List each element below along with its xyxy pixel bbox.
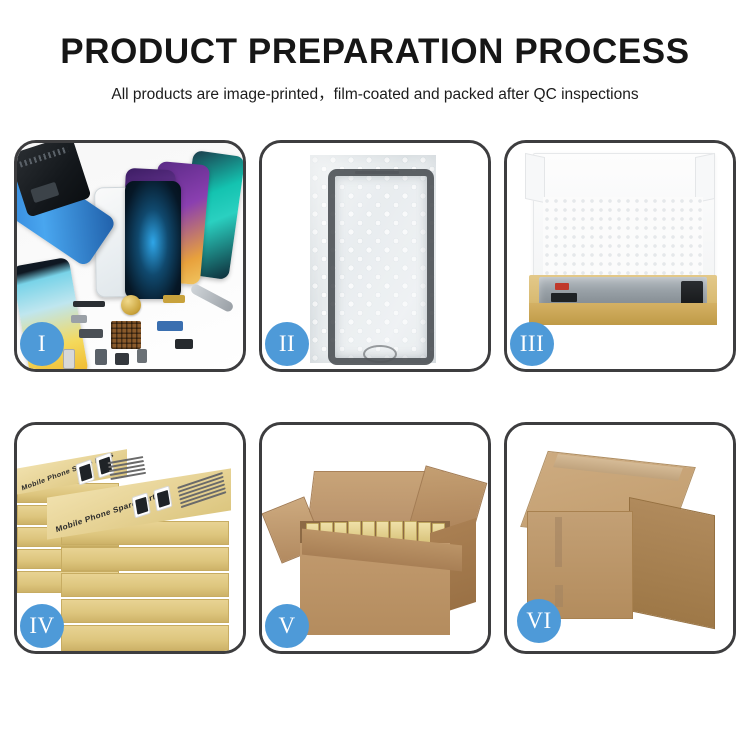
repair-tool [189, 283, 234, 313]
foam-padding [543, 197, 703, 281]
part-strip-9 [175, 339, 193, 349]
part-strip-7 [137, 349, 147, 363]
box-thumb-icon [132, 492, 151, 518]
wrapped-phone-screen [328, 169, 434, 365]
page-subtitle: All products are image-printed，film-coat… [0, 82, 750, 104]
process-step-4[interactable]: Mobile Phone Spare Parts Mobile Phone Sp… [14, 422, 246, 654]
part-strip-10 [71, 315, 87, 323]
tape-seam-upper [555, 517, 562, 567]
page-header: PRODUCT PREPARATION PROCESS All products… [0, 0, 750, 104]
process-step-1[interactable]: I [14, 140, 246, 372]
part-strip-2 [163, 295, 185, 303]
vibration-motor-part [121, 295, 141, 315]
screen-red-label [555, 283, 569, 290]
step-badge-2: II [265, 322, 309, 366]
part-strip-5 [95, 349, 107, 365]
step-badge-6: VI [517, 599, 561, 643]
screen-black-label [551, 293, 577, 302]
tape-seam-lower [555, 585, 563, 607]
part-strip-8 [63, 349, 75, 369]
process-step-6[interactable]: VI [504, 422, 736, 654]
box-thumb-icon [153, 485, 172, 511]
box-thumbnails-front [132, 485, 173, 518]
process-step-5[interactable]: V [259, 422, 491, 654]
step-badge-1: I [20, 322, 64, 366]
part-strip-3 [157, 321, 183, 331]
box-spec-lines-front [177, 472, 226, 510]
box-lid-flap-right [695, 153, 715, 203]
process-step-3[interactable]: III [504, 140, 736, 372]
stack-box-front-2 [61, 547, 229, 571]
part-strip-4 [79, 329, 103, 338]
stack-box-front-5 [61, 625, 229, 651]
step-badge-4: IV [20, 604, 64, 648]
sealed-carton-side [629, 497, 715, 629]
step-badge-5: V [265, 604, 309, 648]
box-thumb-icon [75, 459, 95, 486]
stack-box-front-3 [61, 573, 229, 597]
page-title: PRODUCT PREPARATION PROCESS [0, 34, 750, 71]
part-strip-1 [73, 301, 105, 307]
part-strip-6 [115, 353, 129, 365]
process-step-grid: I II III [14, 140, 736, 654]
step-badge-3: III [510, 322, 554, 366]
process-step-2[interactable]: II [259, 140, 491, 372]
box-lid-flap-left [525, 153, 545, 203]
chip-grid-part [111, 321, 141, 349]
kraft-tray-front [529, 303, 717, 325]
stack-box-front-4 [61, 599, 229, 623]
phone-dark-blue [125, 181, 181, 299]
